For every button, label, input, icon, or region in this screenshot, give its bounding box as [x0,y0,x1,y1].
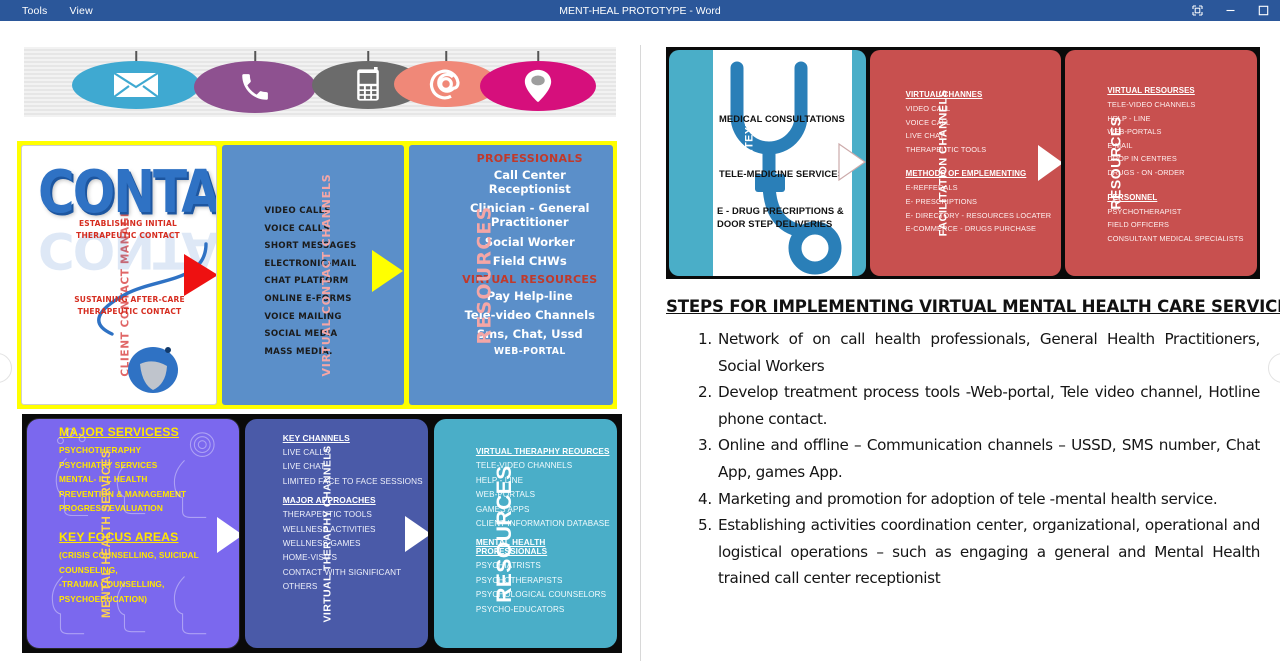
section-heading: VIRTUAL THERAPHY REOURCES [476,447,616,456]
envelope-icon [72,61,200,109]
white-flow-arrow [405,516,428,552]
list-item: WELLNESS GAMES [283,537,423,551]
panel-client-contact-management: CLIENT CONTACT MANAGEMENT CONTACT CONTAC… [21,145,217,405]
panel-mental-health-contextual-services: MENTAL HEAL CONTEXUAL SERVICES MEDICAL C… [669,50,866,276]
contextual-item-3: E - DRUG PRECRIPTIONS & DOOR STEP DELIVE… [717,204,866,230]
document-canvas: CLIENT CONTACT MANAGEMENT CONTACT CONTAC… [0,21,1280,660]
title-bar-menus: Tools View [0,5,93,17]
list-item: E- DIRECTORY - RESOURCES LOCATER [906,209,1058,223]
location-pin-icon [480,61,596,111]
steps-heading: STEPS FOR IMPLEMENTING VIRTUAL MENTAL HE… [666,297,1260,316]
list-item: DRUGS - ON -ORDER [1107,166,1257,180]
envelope-oval [72,51,200,109]
window-controls [1181,0,1280,21]
list-item: VOICE MAILING [264,309,403,327]
next-page-button[interactable] [1268,353,1280,383]
list-item: WEB-PORTALS [1107,125,1257,139]
phone-icon [194,61,316,113]
list-item: E-COMMERCE - DRUGS PURCHASE [906,222,1058,236]
section-heading: METHODS OF EMPLEMENTING [906,169,1058,178]
panel-side-label: VIRTUAL CONTACT CHANNELS [320,173,333,376]
list-item: CONSULTANT MEDICAL SPECIALISTS [1107,232,1257,246]
white-flow-arrow [1038,145,1061,181]
resources-body: VIRTUAL RESOURSES TELE-VIDEO CHANNELS HE… [1107,86,1257,245]
restore-down-icon[interactable] [1181,0,1214,21]
contact-flow-diagram-image[interactable]: CLIENT CONTACT MANAGEMENT CONTACT CONTAC… [17,141,617,409]
list-item: MASS MEDIA. [264,344,403,362]
location-pin-oval [480,51,596,109]
facilitation-body: VIRTUAL CHANNES VIDEO CALL VOICE CALL LI… [906,90,1058,236]
steps-list: Network of on call health professionals,… [698,326,1260,592]
list-item: SOCIAL MEDIA [264,326,403,344]
list-item: VOICE CALL [906,116,1058,130]
list-item: LIVE CALLS [283,446,423,460]
section-heading: VIRTUAL CHANNES [906,90,1058,99]
panel-mental-health-services: MENTAL HEALTH SERVICES MAJOR SERVICESS P… [27,419,239,648]
establishing-contact-text: ESTABLISHING INITIAL THERAPEUTIC CONTACT [58,218,198,243]
list-item: ONLINE E-FORMS [264,291,403,309]
list-item: CONTACT WITH SIGNIFICANT OTHERS [283,566,423,595]
minimize-icon[interactable] [1214,0,1247,21]
section-heading: KEY CHANNELS [283,433,423,443]
list-item: WELLNESS ACTIVITIES [283,523,423,537]
list-item: VIDEO CALLS [264,203,403,221]
list-item: LIMITED FACE TO FACE SESSIONS [283,475,423,489]
section-heading: VIRTUAL RESOURSES [1107,86,1257,95]
list-item: Establishing activities coordination cen… [698,512,1260,592]
section-heading: MAJOR APPROACHES [283,495,423,505]
panel-virtual-therapy-channels: VIRTUAL THERAPHY CHANNELS KEY CHANNELS L… [245,419,428,648]
computer-mouse-icon [122,336,184,394]
panel-side-label: RESOURCES [473,206,495,345]
list-item: FIELD OFFICERS [1107,218,1257,232]
list-item: Call Center Receptionist [451,168,609,196]
maximize-icon[interactable] [1247,0,1280,21]
icon-oval-group [24,47,616,117]
list-item: THERAPEUTIC TOOLS [906,143,1058,157]
list-item: E-MAIL [1107,139,1257,153]
list-item: LIVE CHAT [906,129,1058,143]
list-item: Online and offline – Communication chann… [698,432,1260,485]
list-item: LIVE CHAT [283,460,423,474]
previous-page-button[interactable] [0,353,12,383]
list-item: THERAPEUTIC TOOLS [283,508,423,522]
list-item: E-REFFERALS [906,181,1058,195]
steps-section: STEPS FOR IMPLEMENTING VIRTUAL MENTAL HE… [666,297,1260,592]
phone-oval [194,51,316,109]
menu-view[interactable]: View [70,5,93,17]
list-item: Marketing and promotion for adoption of … [698,486,1260,513]
virtual-care-flow-image[interactable]: MENTAL HEAL CONTEXUAL SERVICES MEDICAL C… [666,47,1260,279]
list-item: TELE-VIDEO CHANNELS [1107,98,1257,112]
panel-resources-top: RESOURCES PROFESSIONALS Call Center Rece… [409,145,613,405]
mental-health-services-flow-image[interactable]: MENTAL HEALTH SERVICES MAJOR SERVICESS P… [22,414,622,653]
panel-facilitation-channels: FACILITATION CHANNELS VIRTUAL CHANNES VI… [870,50,1062,276]
list-item: DROP IN CENTRES [1107,152,1257,166]
red-flow-arrow [184,254,217,296]
list-item: E- PRESCRIPTIONS [906,195,1058,209]
right-page-column: MENTAL HEAL CONTEXUAL SERVICES MEDICAL C… [666,47,1260,592]
list-item: PSYCHOTHERAPIST [1107,205,1257,219]
list-item: PSYCHO-EDUCATORS [476,603,616,618]
yellow-flow-arrow [372,250,403,292]
section-heading: PERSONNEL [1107,193,1257,202]
group-heading: PROFESSIONALS [451,152,609,165]
list-item: Develop treatment process tools -Web-por… [698,379,1260,432]
list-item: WEB-PORTAL [451,346,609,357]
list-item: VOICE CALLS [264,221,403,239]
white-flow-arrow [217,517,239,553]
panel-side-label: VIRTUAL THERAPHY CHANNELS [321,445,333,622]
contextual-item-1: MEDICAL CONSULTATIONS [719,112,866,125]
list-item: HOME-VISITS [283,551,423,565]
panel-resources-right: RESOURCES VIRTUAL RESOURSES TELE-VIDEO C… [1065,50,1257,276]
list-item: HELP - LINE [1107,112,1257,126]
document-title: MENT-HEAL PROTOTYPE - Word [0,5,1280,17]
page-divider [640,45,641,661]
panel-side-label: FACILITATION CHANNELS [937,90,949,237]
head-silhouettes-decoration [27,419,239,644]
outline-flow-arrow [837,142,866,182]
title-bar: Tools View MENT-HEAL PROTOTYPE - Word [0,0,1280,21]
panel-virtual-contact-channels: VIRTUAL CONTACT CHANNELS VIDEO CALLS VOI… [222,145,403,405]
panel-side-label: RESOURCES [493,465,517,603]
list-item: Network of on call health professionals,… [698,326,1260,379]
panel-side-label: RESOURCES [1108,116,1124,209]
menu-tools[interactable]: Tools [22,5,48,17]
sustaining-contact-text: SUSTAINING AFTER-CARE THERAPEUTIC CONTAC… [52,294,207,319]
therapy-body: KEY CHANNELS LIVE CALLS LIVE CHAT LIMITE… [283,433,423,595]
panel-side-label: MENTAL HEALTH SERVICES [101,450,113,618]
contact-icons-banner-image[interactable] [24,47,616,117]
panel-resources-bottom: RESOURCES VIRTUAL THERAPHY REOURCES TELE… [434,419,617,648]
list-item: VIDEO CALL [906,102,1058,116]
